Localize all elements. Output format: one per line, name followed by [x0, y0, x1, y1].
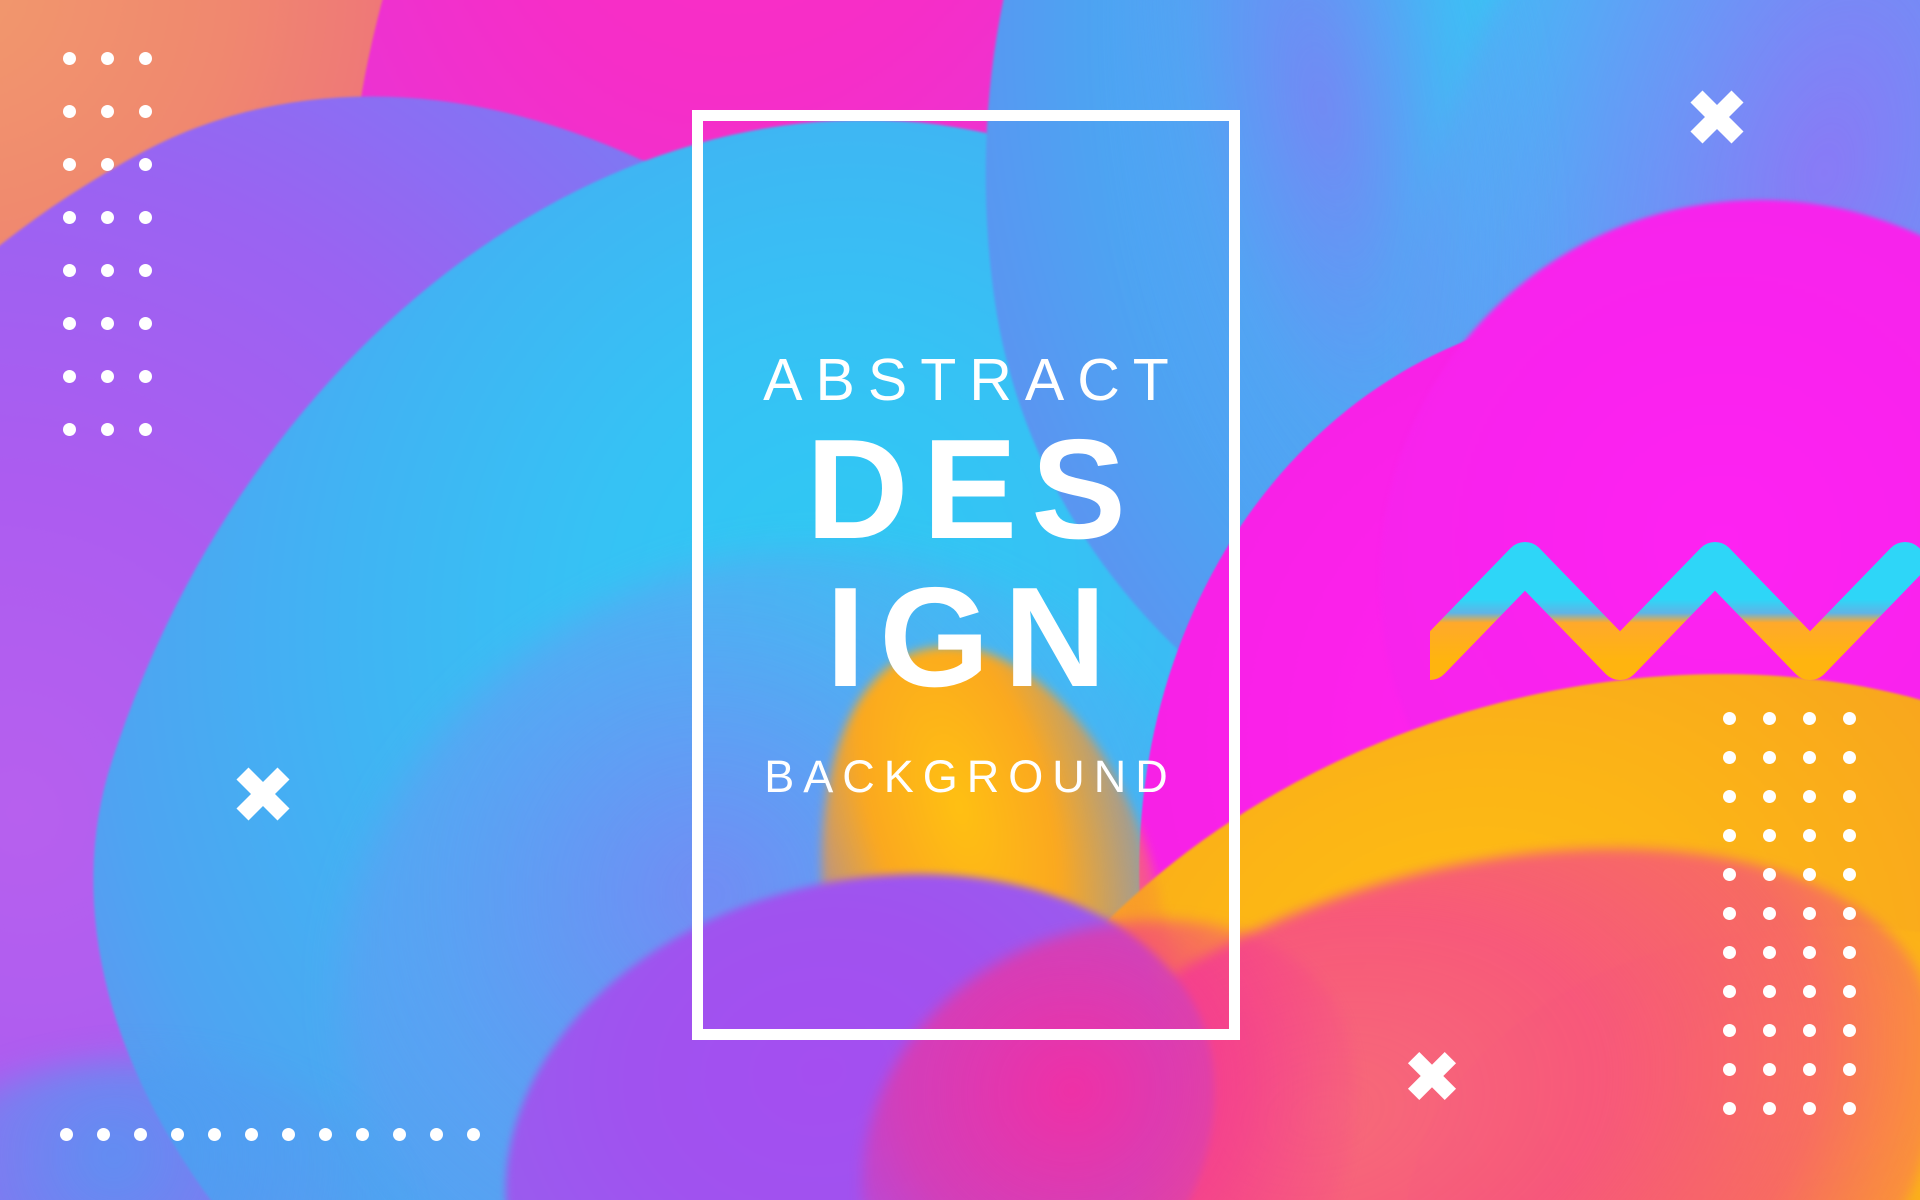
dot [1843, 985, 1856, 998]
dot [101, 105, 114, 118]
dot [1763, 1063, 1776, 1076]
dot [1763, 946, 1776, 959]
dot [319, 1128, 332, 1141]
dot [1803, 1063, 1816, 1076]
dot [1803, 868, 1816, 881]
dot [139, 211, 152, 224]
dot [1803, 712, 1816, 725]
dot [245, 1128, 258, 1141]
dot [1723, 712, 1736, 725]
dot [63, 370, 76, 383]
dot [101, 158, 114, 171]
dot [63, 317, 76, 330]
dot [139, 423, 152, 436]
subtitle-text: BACKGROUND [764, 754, 1177, 799]
dot [467, 1128, 480, 1141]
dot [1723, 1102, 1736, 1115]
dot [63, 423, 76, 436]
dot [1803, 946, 1816, 959]
dot [63, 211, 76, 224]
dot [134, 1128, 147, 1141]
dot [63, 52, 76, 65]
dot [1843, 829, 1856, 842]
dot [1723, 829, 1736, 842]
dot [1843, 1063, 1856, 1076]
dot [97, 1128, 110, 1141]
dot [139, 158, 152, 171]
dot [171, 1128, 184, 1141]
cross-icon-top-right [1688, 88, 1746, 146]
dot [139, 52, 152, 65]
dot [1803, 907, 1816, 920]
dot [1803, 1102, 1816, 1115]
dot [1723, 868, 1736, 881]
dot [1763, 868, 1776, 881]
dot [1763, 712, 1776, 725]
dot [1843, 712, 1856, 725]
dot [139, 317, 152, 330]
dot [430, 1128, 443, 1141]
title-line-one: DES [806, 416, 1140, 564]
headline-text-block: ABSTRACT DES IGN BACKGROUND [692, 110, 1240, 1040]
dot [1723, 751, 1736, 764]
dot [1803, 1024, 1816, 1037]
dot [1803, 790, 1816, 803]
dot [139, 264, 152, 277]
dot [1843, 1024, 1856, 1037]
dot [139, 105, 152, 118]
dot [1763, 790, 1776, 803]
dot [101, 52, 114, 65]
dot [101, 423, 114, 436]
dot [282, 1128, 295, 1141]
dot [63, 105, 76, 118]
dot [1763, 751, 1776, 764]
abstract-design-poster: ABSTRACT DES IGN BACKGROUND [0, 0, 1920, 1200]
dot [1803, 751, 1816, 764]
dot [1763, 1102, 1776, 1115]
dot [60, 1128, 73, 1141]
dot [1723, 790, 1736, 803]
dot [1763, 907, 1776, 920]
eyebrow-text: ABSTRACT [763, 351, 1182, 410]
dot [208, 1128, 221, 1141]
dot [139, 370, 152, 383]
dot [1723, 907, 1736, 920]
dot [101, 264, 114, 277]
dot [101, 317, 114, 330]
dot [1843, 1102, 1856, 1115]
dot-grid-bottom-left [60, 1128, 504, 1148]
cross-icon-bottom-right [1406, 1050, 1458, 1102]
dot-grid-right [1723, 712, 1883, 1141]
dot [63, 158, 76, 171]
dot [393, 1128, 406, 1141]
dot [1723, 946, 1736, 959]
dot [101, 211, 114, 224]
dot [1803, 829, 1816, 842]
dot [1763, 829, 1776, 842]
dot [1843, 868, 1856, 881]
dot [1843, 907, 1856, 920]
dot [1843, 790, 1856, 803]
dot [101, 370, 114, 383]
dot [1723, 1063, 1736, 1076]
dot [356, 1128, 369, 1141]
dot [1843, 751, 1856, 764]
cross-icon-left [234, 765, 292, 823]
dot [63, 264, 76, 277]
dot-grid-top-left [63, 52, 177, 476]
dot [1763, 1024, 1776, 1037]
dot [1723, 985, 1736, 998]
dot [1803, 985, 1816, 998]
dot [1843, 946, 1856, 959]
dot [1763, 985, 1776, 998]
title-line-two: IGN [826, 564, 1120, 712]
dot [1723, 1024, 1736, 1037]
